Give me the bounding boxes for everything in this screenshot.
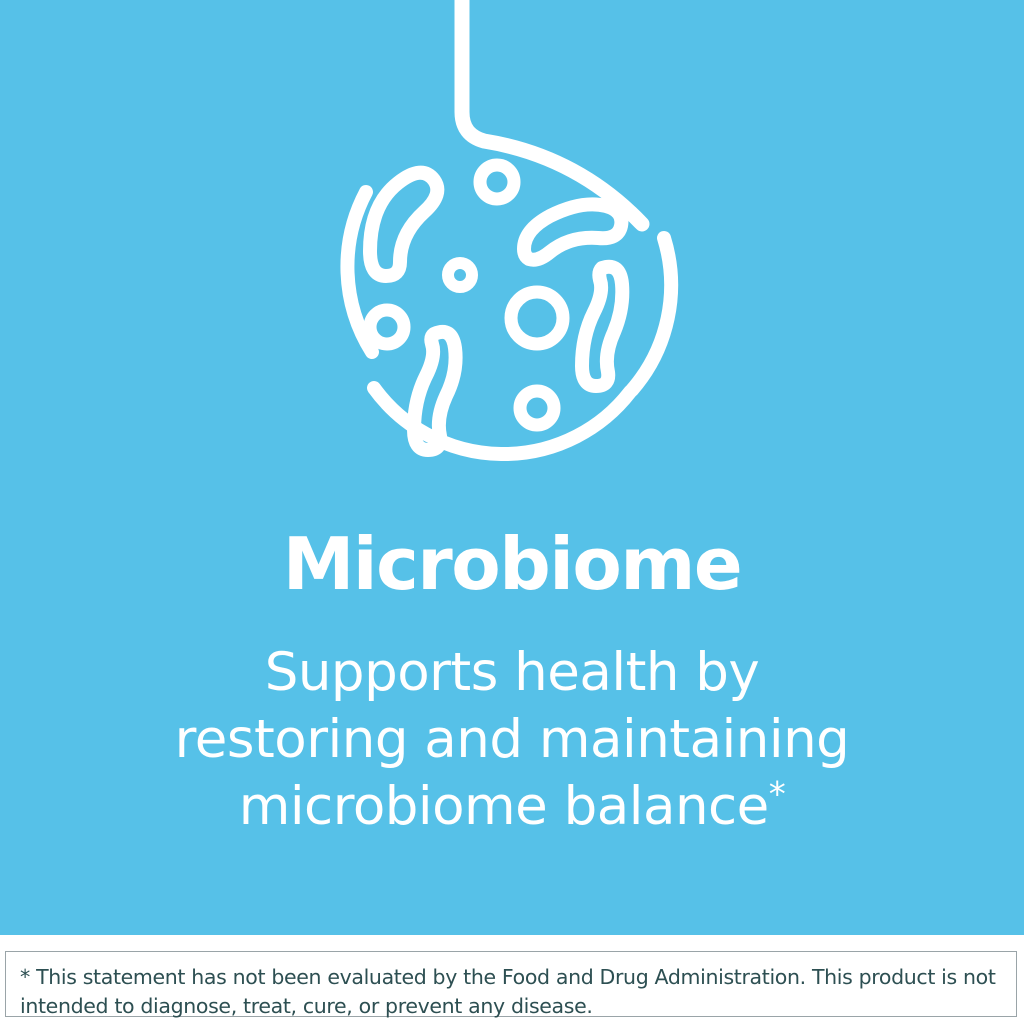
benefit-description-line-2: restoring and maintaining xyxy=(102,707,922,774)
footnote-asterisk: * xyxy=(769,774,786,814)
microbiome-petri-dish-icon xyxy=(312,0,712,495)
disclaimer-box: * This statement has not been evaluated … xyxy=(5,951,1017,1017)
microbe-rod-upper-right xyxy=(524,204,621,259)
microbe-ring-lower-center xyxy=(520,391,554,425)
page-title: Microbiome xyxy=(0,528,1024,600)
microbe-ring-tiny-center xyxy=(448,263,472,287)
benefit-description-line-1: Supports health by xyxy=(102,640,922,707)
benefit-description-line-3: microbiome balance* xyxy=(102,774,922,841)
microbe-ring-upper-center xyxy=(480,165,514,199)
benefit-description-line-3-text: microbiome balance xyxy=(239,776,769,837)
dish-rim-right-arc xyxy=(632,238,671,390)
benefit-description: Supports health by restoring and maintai… xyxy=(102,640,922,840)
microbe-ring-center-large xyxy=(511,292,563,344)
hero-panel: Microbiome Supports health by restoring … xyxy=(0,0,1024,935)
microbe-ring-lower-left xyxy=(370,310,404,344)
microbiome-benefit-card: Microbiome Supports health by restoring … xyxy=(0,0,1024,1024)
microbe-rod-right xyxy=(582,267,622,386)
microbe-rod-upper-left xyxy=(370,173,437,276)
microbe-rod-lower-left xyxy=(414,332,456,450)
disclaimer-text: * This statement has not been evaluated … xyxy=(20,963,1002,1021)
